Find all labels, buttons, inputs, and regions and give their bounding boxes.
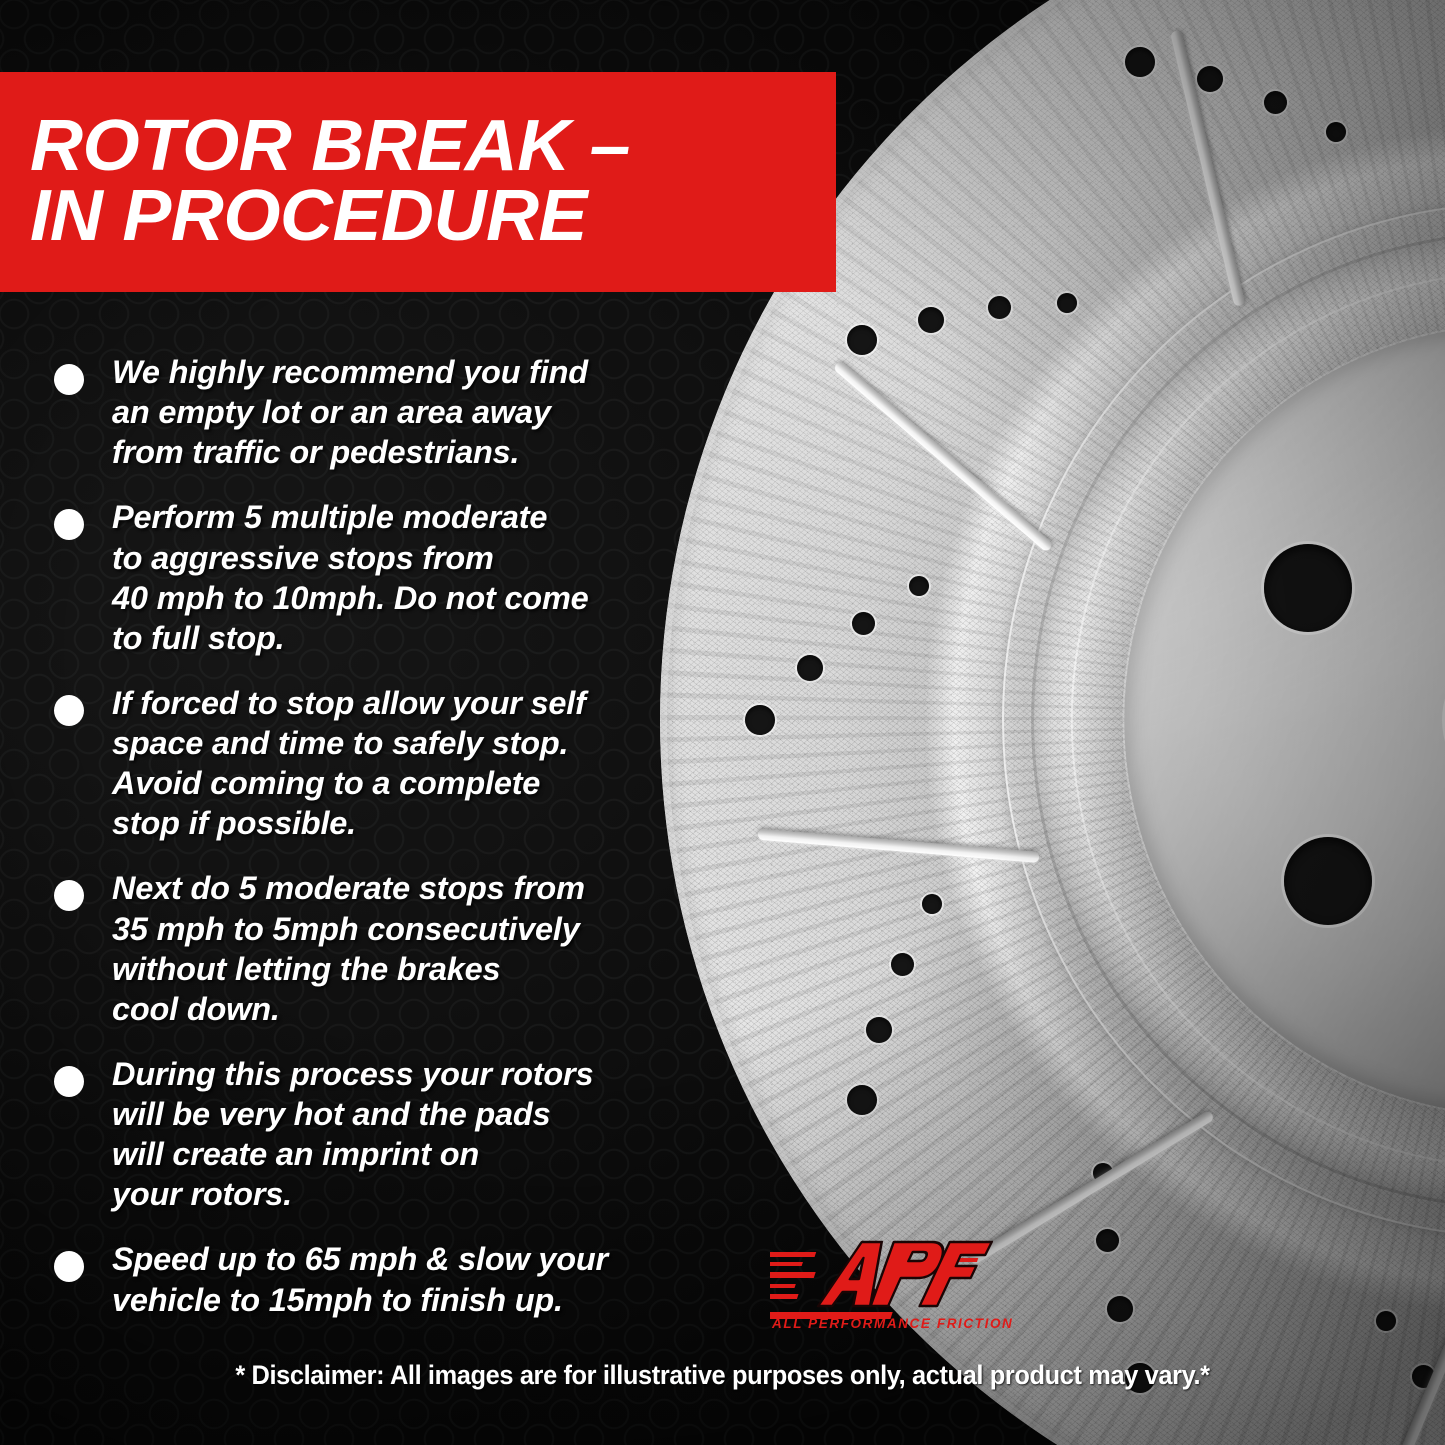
list-item: During this process your rotors will be … (50, 1054, 770, 1215)
list-item: Next do 5 moderate stops from 35 mph to … (50, 868, 770, 1029)
list-item: If forced to stop allow your self space … (50, 683, 770, 844)
bullet-dot-icon (54, 364, 84, 395)
list-item: Speed up to 65 mph & slow your vehicle t… (50, 1239, 770, 1319)
apf-brand-logo: ALL PERFORMANCE FRICTION (770, 1228, 1000, 1333)
title-banner: ROTOR BREAK – IN PROCEDURE (0, 72, 836, 292)
list-item-text: During this process your rotors will be … (112, 1054, 770, 1215)
list-item-text: Speed up to 65 mph & slow your vehicle t… (112, 1239, 770, 1319)
bullet-dot-icon (54, 1066, 84, 1097)
procedure-step-list: We highly recommend you find an empty lo… (50, 352, 770, 1345)
list-item: Perform 5 multiple moderate to aggressiv… (50, 497, 770, 658)
bullet-dot-icon (54, 880, 84, 911)
list-item-text: We highly recommend you find an empty lo… (112, 352, 770, 472)
title-line-1: ROTOR BREAK – (30, 112, 852, 182)
bullet-dot-icon (54, 1251, 84, 1282)
list-item: We highly recommend you find an empty lo… (50, 352, 770, 472)
bullet-dot-icon (54, 509, 84, 540)
apf-logo-tagline: ALL PERFORMANCE FRICTION (772, 1316, 998, 1331)
list-item-text: If forced to stop allow your self space … (112, 683, 770, 844)
bullet-dot-icon (54, 695, 84, 726)
list-item-text: Perform 5 multiple moderate to aggressiv… (112, 497, 770, 658)
list-item-text: Next do 5 moderate stops from 35 mph to … (112, 868, 770, 1029)
title-line-2: IN PROCEDURE (30, 182, 852, 252)
poster-canvas: ROTOR BREAK – IN PROCEDURE We highly rec… (0, 0, 1445, 1445)
disclaimer-text: * Disclaimer: All images are for illustr… (43, 1360, 1401, 1391)
